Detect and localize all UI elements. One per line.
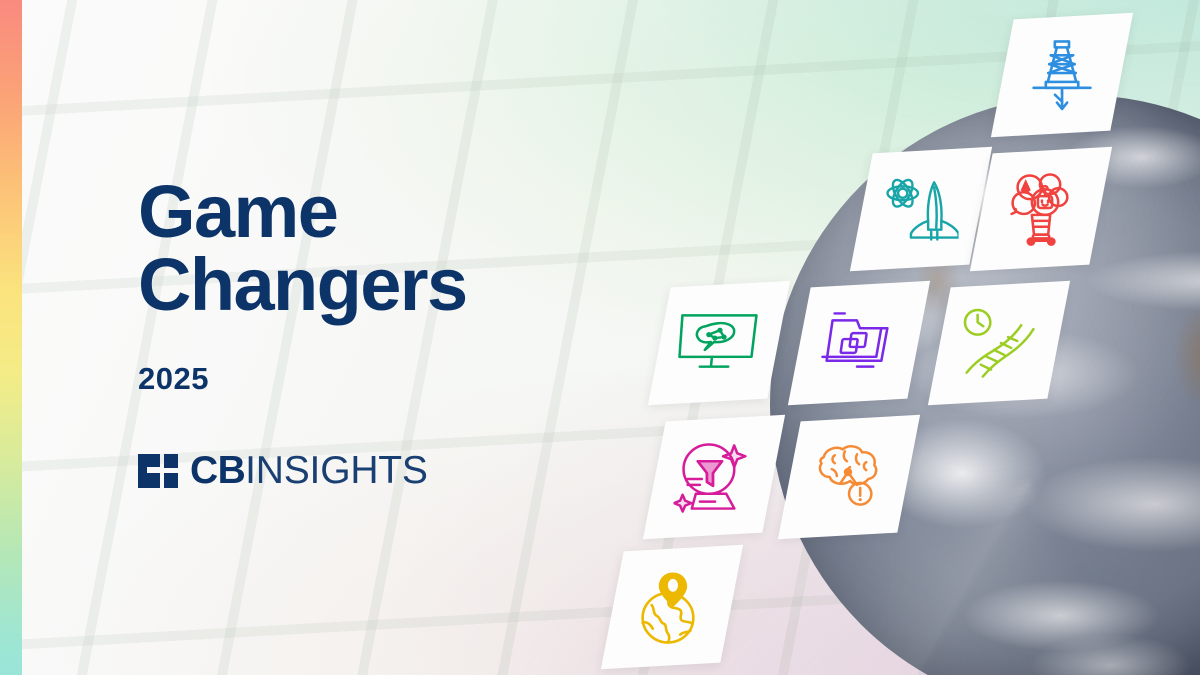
cb-insights-mark-icon [138, 454, 178, 488]
space-shuttle-icon [883, 174, 958, 243]
tile-brain-alert[interactable] [778, 415, 920, 539]
dna-clock-icon [960, 307, 1037, 378]
tile-ai-lightbulb[interactable] [970, 147, 1112, 271]
logo-cb-text: CB [190, 449, 245, 493]
report-year: 2025 [138, 361, 568, 397]
page-title: Game Changers [138, 176, 568, 321]
tile-network-monitor[interactable] [648, 281, 790, 405]
globe-pin-icon [638, 570, 705, 645]
drilling-rig-icon [1030, 38, 1093, 111]
cover-text-block: Game Changers 2025 CB INSIGHTS [138, 176, 568, 493]
tile-dna-clock[interactable] [928, 281, 1070, 405]
logo-insights-text: INSIGHTS [245, 449, 428, 493]
logo-wordmark: CB INSIGHTS [190, 449, 428, 493]
network-monitor-icon [677, 309, 760, 376]
tile-globe-pin[interactable] [601, 545, 743, 669]
title-line-2: Changers [138, 249, 568, 322]
title-line-1: Game [138, 170, 337, 253]
crystal-ball-icon [673, 439, 754, 514]
tile-drilling-rig[interactable] [991, 13, 1133, 137]
brain-alert-icon [809, 441, 888, 512]
data-folder-icon [820, 309, 897, 376]
ai-lightbulb-icon [1005, 172, 1076, 247]
report-cover: Game Changers 2025 CB INSIGHTS [0, 0, 1200, 675]
tile-crystal-ball[interactable] [643, 415, 785, 539]
cb-insights-logo[interactable]: CB INSIGHTS [138, 449, 568, 493]
tile-data-folder[interactable] [788, 281, 930, 405]
tile-space-shuttle[interactable] [850, 147, 992, 271]
accent-stripe [0, 0, 22, 675]
